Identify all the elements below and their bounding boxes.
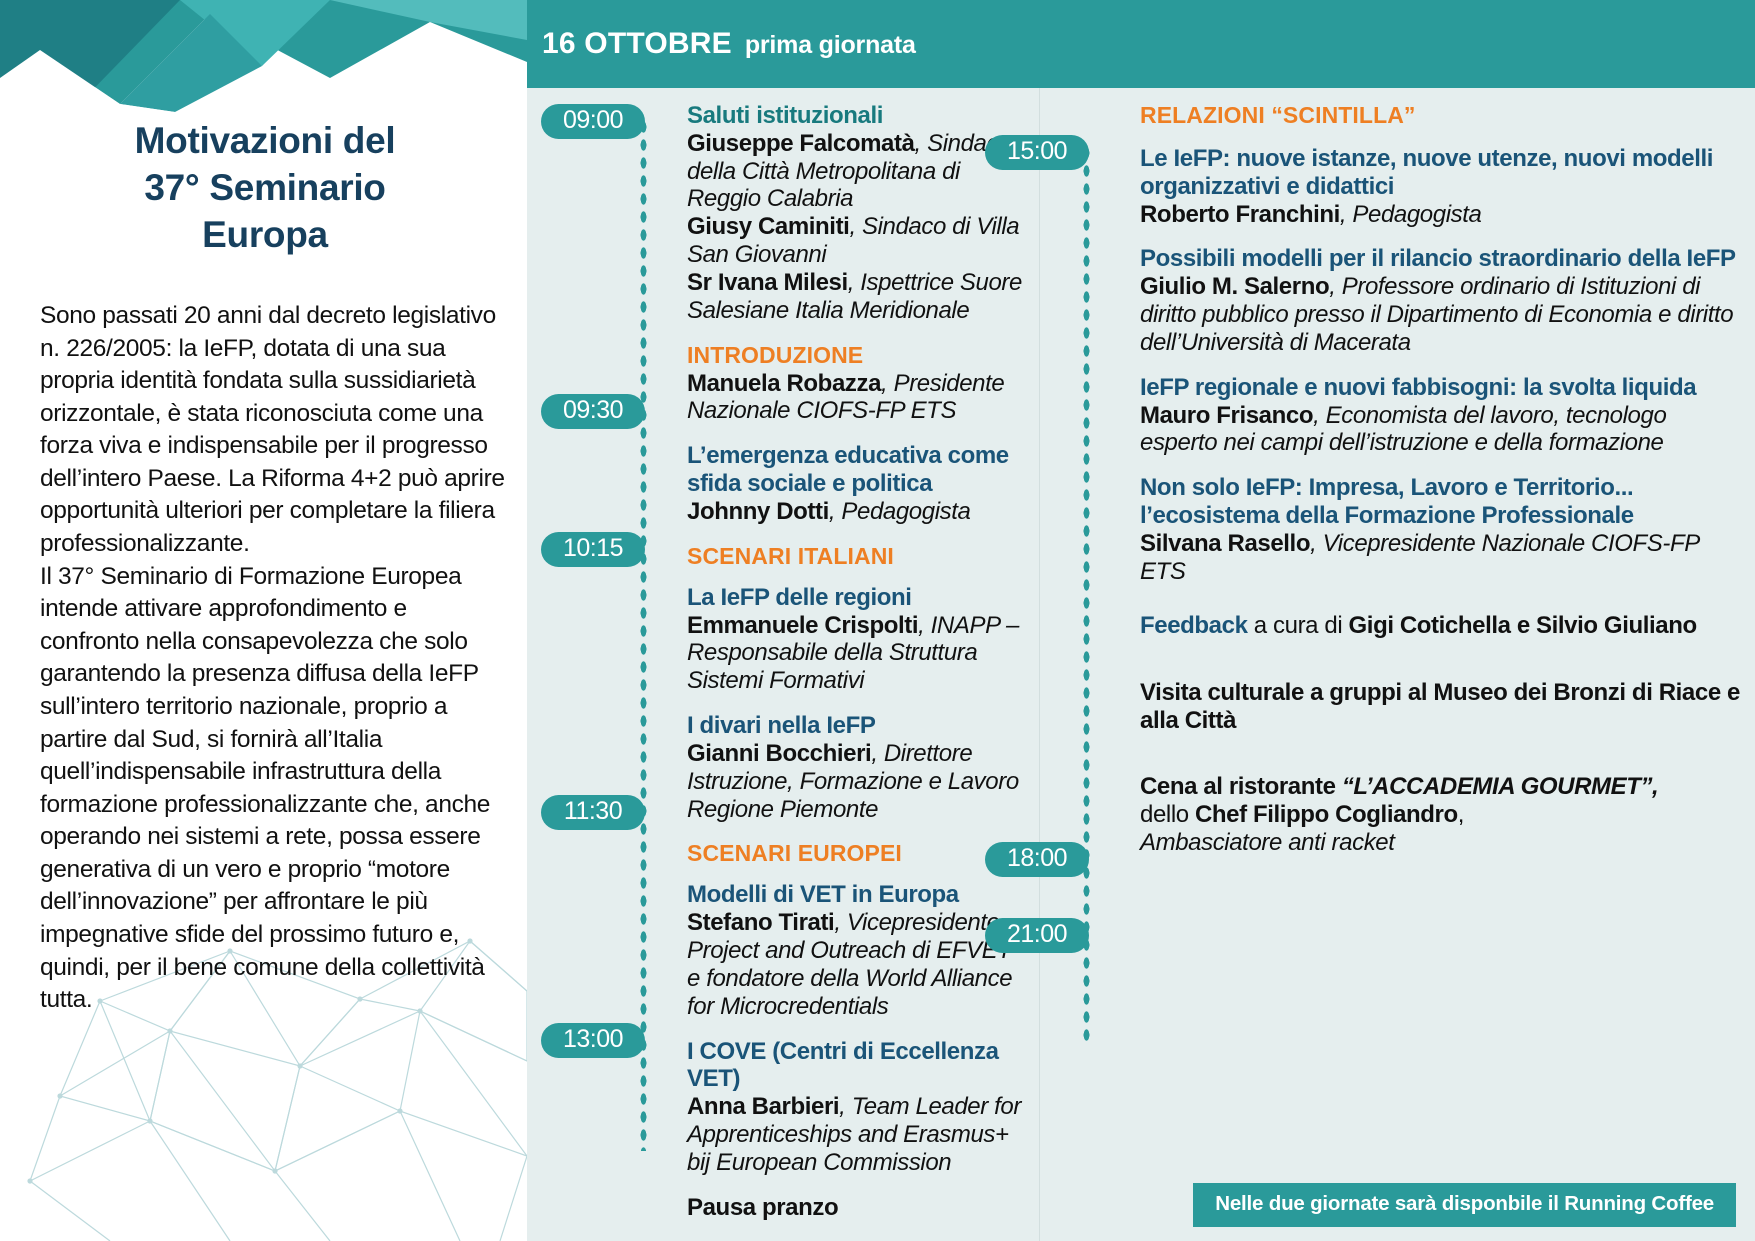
schedule-entry: RELAZIONI “SCINTILLA” [1140, 102, 1740, 129]
dinner-prefix: Cena al ristorante [1140, 773, 1342, 800]
timeline-rail [639, 118, 648, 1151]
entry-title: I divari nella IeFP [687, 712, 1027, 740]
motivation-body: Sono passati 20 anni dal decreto legisla… [40, 300, 505, 1017]
time-pill: 15:00 [985, 135, 1089, 170]
feedback-label: Feedback [1140, 612, 1248, 639]
page-title: Motivazioni del 37° Seminario Europa [40, 118, 490, 259]
entry-title: L’emergenza educativa come sfida sociale… [687, 442, 1027, 498]
schedule-entry: SCENARI ITALIANI [687, 543, 1027, 570]
speaker-name: Giusy Caminiti [687, 213, 849, 240]
schedule-entry: Modelli di VET in Europa Stefano Tirati,… [687, 881, 1027, 1020]
entry-speaker: Emmanuele Crispolti, INAPP – Responsabil… [687, 612, 1027, 695]
schedule-entry: Le IeFP: nuove istanze, nuove utenze, nu… [1140, 145, 1740, 228]
schedule-entry-feedback: Feedback a cura di Gigi Cotichella e Sil… [1140, 612, 1740, 640]
entry-speaker: Giuseppe Falcomatà, Sindaco della Città … [687, 130, 1027, 213]
day-date: 16 OTTOBRE [542, 27, 732, 61]
page-title-line-2: 37° Seminario [40, 165, 490, 212]
entry-speaker: Giusy Caminiti, Sindaco di Villa San Gio… [687, 213, 1027, 269]
schedule-entry: I COVE (Centri di Eccellenza VET) Anna B… [687, 1038, 1027, 1177]
page-title-line-1: Motivazioni del [40, 118, 490, 165]
speaker-name: Mauro Frisanco [1140, 402, 1313, 429]
entry-title: La IeFP delle regioni [687, 584, 1027, 612]
speaker-name: Giuseppe Falcomatà [687, 130, 915, 157]
afternoon-column: 15:00 18:00 21:00 RELAZIONI “SCINTILLA” … [1039, 88, 1755, 1241]
time-pill: 21:00 [985, 918, 1089, 953]
entry-title: Modelli di VET in Europa [687, 881, 1027, 909]
entry-title: Le IeFP: nuove istanze, nuove utenze, nu… [1140, 145, 1740, 201]
morning-entries: Saluti istituzionali Giuseppe Falcomatà,… [687, 102, 1027, 1239]
schedule-entry: SCENARI EUROPEI [687, 840, 1027, 867]
schedule-columns: 09:00 09:30 10:15 11:30 13:00 Saluti ist… [527, 88, 1755, 1241]
time-pill: 09:00 [541, 104, 645, 139]
schedule-entry: L’emergenza educativa come sfida sociale… [687, 442, 1027, 525]
section-heading: SCENARI EUROPEI [687, 840, 1027, 867]
morning-column: 09:00 09:30 10:15 11:30 13:00 Saluti ist… [527, 88, 1039, 1241]
section-heading: RELAZIONI “SCINTILLA” [1140, 102, 1740, 129]
entry-title: I COVE (Centri di Eccellenza VET) [687, 1038, 1027, 1094]
left-panel: Motivazioni del 37° Seminario Europa Son… [0, 0, 527, 1241]
feedback-names: Gigi Cotichella e Silvio Giuliano [1349, 612, 1697, 639]
day-subtitle: prima giornata [745, 31, 916, 60]
entry-speaker: Gianni Bocchieri, Direttore Istruzione, … [687, 740, 1027, 823]
speaker-name: Johnny Dotti [687, 498, 829, 525]
entry-speaker: Silvana Rasello, Vicepresidente Nazional… [1140, 530, 1740, 586]
schedule-entry: La IeFP delle regioni Emmanuele Crispolt… [687, 584, 1027, 695]
speaker-name: Roberto Franchini [1140, 201, 1340, 228]
entry-plain-text: Visita culturale a gruppi al Museo dei B… [1140, 679, 1740, 735]
schedule-entry: I divari nella IeFP Gianni Bocchieri, Di… [687, 712, 1027, 823]
motivation-paragraph: Sono passati 20 anni dal decreto legisla… [40, 300, 505, 561]
time-pill: 11:30 [541, 795, 645, 830]
dinner-chef-name: Chef Filippo Cogliandro [1195, 801, 1458, 828]
schedule-entry: INTRODUZIONE Manuela Robazza, Presidente… [687, 342, 1027, 426]
schedule-entry: Possibili modelli per il rilancio straor… [1140, 245, 1740, 356]
speaker-name: Anna Barbieri [687, 1093, 839, 1120]
time-pill: 10:15 [541, 532, 645, 567]
speaker-role: , Pedagogista [1340, 201, 1482, 228]
speaker-name: Emmanuele Crispolti [687, 612, 918, 639]
entry-speaker: Giulio M. Salerno, Professore ordinario … [1140, 273, 1740, 356]
section-heading: SCENARI ITALIANI [687, 543, 1027, 570]
schedule-entry: Saluti istituzionali Giuseppe Falcomatà,… [687, 102, 1027, 325]
schedule-entry: Pausa pranzo [687, 1194, 1027, 1222]
afternoon-entries: RELAZIONI “SCINTILLA” Le IeFP: nuove ist… [1140, 102, 1740, 874]
entry-speaker: Johnny Dotti, Pedagogista [687, 498, 1027, 526]
entry-title: Saluti istituzionali [687, 102, 1027, 130]
entry-speaker: Anna Barbieri, Team Leader for Apprentic… [687, 1093, 1027, 1176]
dinner-chef-comma: , [1458, 801, 1464, 828]
speaker-name: Stefano Tirati [687, 909, 834, 936]
decorative-polygons-top [0, 0, 527, 130]
page-title-line-3: Europa [40, 212, 490, 259]
speaker-name: Sr Ivana Milesi [687, 269, 848, 296]
feedback-middle: a cura di [1248, 612, 1349, 639]
speaker-name: Giulio M. Salerno [1140, 273, 1329, 300]
schedule-entry: Non solo IeFP: Impresa, Lavoro e Territo… [1140, 474, 1740, 585]
entry-speaker: Roberto Franchini, Pedagogista [1140, 201, 1740, 229]
speaker-name: Manuela Robazza [687, 370, 881, 397]
dinner-chef-prefix: dello [1140, 801, 1195, 828]
speaker-role: , Pedagogista [829, 498, 971, 525]
schedule-entry: IeFP regionale e nuovi fabbisogni: la sv… [1140, 374, 1740, 457]
entry-plain-text: Pausa pranzo [687, 1194, 1027, 1222]
entry-speaker: Sr Ivana Milesi, Ispettrice Suore Salesi… [687, 269, 1027, 325]
speaker-name: Silvana Rasello [1140, 530, 1310, 557]
time-pill: 18:00 [985, 842, 1089, 877]
timeline-rail [1082, 144, 1091, 1041]
entry-title: Non solo IeFP: Impresa, Lavoro e Territo… [1140, 474, 1740, 530]
schedule-entry: Visita culturale a gruppi al Museo dei B… [1140, 679, 1740, 735]
time-pill: 09:30 [541, 394, 645, 429]
speaker-name: Gianni Bocchieri [687, 740, 871, 767]
dinner-chef-title: Ambasciatore anti racket [1140, 829, 1395, 856]
entry-speaker: Manuela Robazza, Presidente Nazionale CI… [687, 370, 1027, 426]
entry-title: IeFP regionale e nuovi fabbisogni: la sv… [1140, 374, 1740, 402]
day-header: 16 OTTOBRE prima giornata [527, 0, 1755, 88]
dinner-restaurant: “L’ACCADEMIA GOURMET”, [1342, 773, 1659, 800]
entry-title: Possibili modelli per il rilancio straor… [1140, 245, 1740, 273]
entry-speaker: Stefano Tirati, Vicepresidente Project a… [687, 909, 1027, 1020]
section-heading: INTRODUZIONE [687, 342, 1027, 369]
time-pill: 13:00 [541, 1023, 645, 1058]
running-coffee-banner: Nelle due giornate sarà disponbile il Ru… [1193, 1183, 1736, 1227]
schedule-entry-dinner: Cena al ristorante “L’ACCADEMIA GOURMET”… [1140, 773, 1740, 856]
motivation-paragraph: Il 37° Seminario di Formazione Europea i… [40, 561, 505, 1017]
entry-speaker: Mauro Frisanco, Economista del lavoro, t… [1140, 402, 1740, 458]
